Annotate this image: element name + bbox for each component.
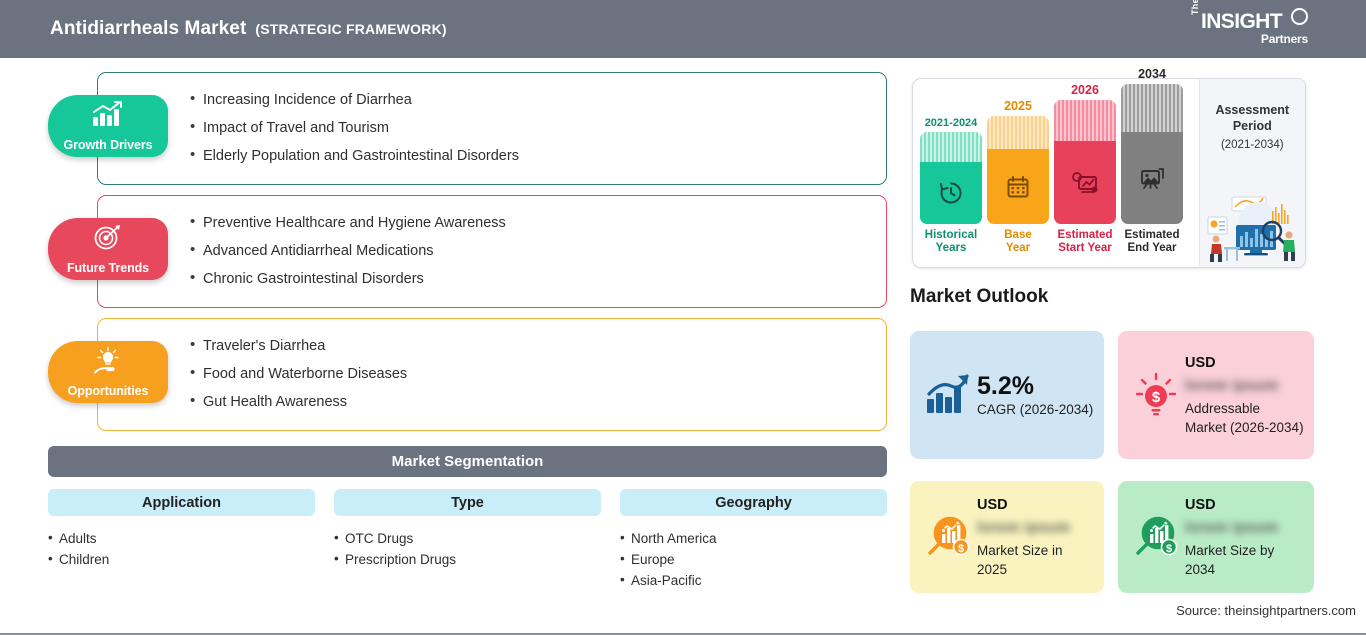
- addressable-market-masked-value: lorem ipsum: [1185, 376, 1305, 396]
- bar-caption: Estimated End Year: [1121, 229, 1183, 255]
- addressable-market-icon-wrap: $: [1127, 341, 1185, 449]
- logo-the-text: The: [1190, 0, 1200, 15]
- bar-solid: [1054, 141, 1116, 224]
- badge-label: Opportunities: [68, 384, 149, 398]
- future-trends-list: Preventive Healthcare and Hygiene Awaren…: [98, 196, 886, 293]
- list-item: OTC Drugs: [334, 528, 601, 549]
- list-item: Europe: [620, 549, 887, 570]
- bar-caption-line1: Base: [1004, 229, 1032, 241]
- assessment-period-title-line2: Period: [1233, 119, 1272, 133]
- market-segmentation-title: Market Segmentation: [392, 453, 544, 470]
- bar-shape: [920, 132, 982, 224]
- cagr-card: 5.2% CAGR (2026-2034): [910, 331, 1104, 459]
- bar-chart-arrow-icon: [924, 373, 972, 417]
- source-text: Source: theinsightpartners.com: [1176, 603, 1356, 618]
- list-item: North America: [620, 528, 887, 549]
- analytics-dashboard-illustration: [1202, 191, 1305, 263]
- svg-text:$: $: [1152, 389, 1161, 406]
- bar-solid: [920, 162, 982, 224]
- person-right: [1283, 231, 1295, 261]
- assessment-bar-estimated-end: 2034 Estimated End: [1121, 67, 1183, 255]
- page-title: Antidiarrheals Market: [50, 18, 246, 40]
- magnifier-chart-dollar-icon: $: [923, 514, 973, 560]
- addressable-market-label: Addressable Market (2026-2034): [1185, 399, 1305, 437]
- bar-stripes: [1054, 100, 1116, 141]
- bar-caption-line1: Estimated: [1058, 229, 1113, 241]
- lightbulb-dollar-icon: $: [1133, 371, 1179, 419]
- bar-year-label: 2026: [1054, 83, 1116, 97]
- opportunities-badge[interactable]: Opportunities: [48, 341, 168, 403]
- badge-label: Growth Drivers: [64, 138, 153, 152]
- bar-stripes: [1121, 84, 1183, 132]
- list-item: Traveler's Diarrhea: [190, 332, 886, 360]
- badge-label: Future Trends: [67, 261, 149, 275]
- assessment-bar-historical: 2021-2024 Historical Years: [920, 117, 982, 255]
- market-size-2034-icon-wrap: $: [1127, 491, 1185, 583]
- market-size-2025-masked-value: lorem ipsum: [977, 518, 1095, 538]
- right-column: 2021-2024 Historical Years: [900, 58, 1366, 633]
- bar-year-label: 2021-2024: [920, 117, 982, 129]
- svg-text:$: $: [958, 543, 964, 555]
- bar-caption: Estimated Start Year: [1054, 229, 1116, 255]
- assessment-period-panel: 2021-2024 Historical Years: [912, 78, 1306, 268]
- market-outlook-title: Market Outlook: [910, 286, 1048, 308]
- target-dartboard-icon: [92, 224, 124, 250]
- history-clock-icon: [938, 180, 964, 206]
- market-size-2034-label: Market Size by 2034: [1185, 541, 1305, 579]
- image-chart-monitor-icon: [1138, 165, 1166, 191]
- market-size-2025-label: Market Size in 2025: [977, 541, 1095, 579]
- future-trends-panel: Preventive Healthcare and Hygiene Awaren…: [97, 195, 887, 308]
- assessment-period-title-line1: Assessment: [1215, 103, 1289, 117]
- list-item: Chronic Gastrointestinal Disorders: [190, 265, 886, 293]
- segmentation-column-title: Geography: [620, 489, 887, 516]
- assessment-bars: 2021-2024 Historical Years: [913, 79, 1199, 267]
- growth-drivers-list: Increasing Incidence of Diarrhea Impact …: [98, 73, 886, 170]
- list-item: Preventive Healthcare and Hygiene Awaren…: [190, 209, 886, 237]
- list-item: Food and Waterborne Diseases: [190, 360, 886, 388]
- left-column: Increasing Incidence of Diarrhea Impact …: [0, 58, 900, 633]
- list-item: Asia-Pacific: [620, 570, 887, 591]
- market-segmentation-header: Market Segmentation: [48, 446, 887, 477]
- opportunities-panel: Traveler's Diarrhea Food and Waterborne …: [97, 318, 887, 431]
- assessment-period-side: Assessment Period (2021-2034): [1199, 79, 1305, 267]
- list-item: Adults: [48, 528, 315, 549]
- segmentation-column-type: Type OTC Drugs Prescription Drugs: [334, 489, 601, 570]
- bar-caption-line2: Years: [936, 242, 967, 254]
- list-item: Gut Health Awareness: [190, 388, 886, 416]
- list-item: Increasing Incidence of Diarrhea: [190, 86, 886, 114]
- cagr-card-icon-wrap: [919, 341, 977, 449]
- segmentation-column-geography: Geography North America Europe Asia-Paci…: [620, 489, 887, 591]
- analytics-gear-icon: [1071, 170, 1099, 196]
- addressable-market-currency: USD: [1185, 354, 1305, 373]
- assessment-period-range: (2021-2034): [1200, 139, 1305, 151]
- bar-caption: Base Year: [987, 229, 1049, 255]
- segmentation-column-list: Adults Children: [48, 528, 315, 570]
- bar-year-label: 2025: [987, 99, 1049, 113]
- logo-ring-icon: [1291, 8, 1308, 25]
- segmentation-column-list: OTC Drugs Prescription Drugs: [334, 528, 601, 570]
- list-item: Advanced Antidiarrheal Medications: [190, 237, 886, 265]
- bar-stripes: [987, 116, 1049, 149]
- bar-year-label: 2034: [1121, 67, 1183, 81]
- segmentation-column-title: Type: [334, 489, 601, 516]
- logo-insight-text: INSIGHT: [1201, 10, 1282, 34]
- svg-text:$: $: [1166, 543, 1172, 555]
- growth-drivers-panel: Increasing Incidence of Diarrhea Impact …: [97, 72, 887, 185]
- assessment-period-title: Assessment Period: [1200, 102, 1305, 134]
- future-trends-badge[interactable]: Future Trends: [48, 218, 168, 280]
- opportunities-list: Traveler's Diarrhea Food and Waterborne …: [98, 319, 886, 416]
- bar-caption-line1: Estimated: [1125, 229, 1180, 241]
- lightbulb-hand-icon: [91, 347, 125, 375]
- list-item: Impact of Travel and Tourism: [190, 114, 886, 142]
- bar-caption: Historical Years: [920, 229, 982, 255]
- insight-partners-logo: The INSIGHT Partners: [1190, 7, 1310, 51]
- addressable-market-card: $ USD lorem ipsum Addressable Market (20…: [1118, 331, 1314, 459]
- market-size-2025-card: $ USD lorem ipsum Market Size in 2025: [910, 481, 1104, 593]
- market-size-2034-card: $ USD lorem ipsum Market Size by 2034: [1118, 481, 1314, 593]
- bar-caption-line2: End Year: [1127, 242, 1176, 254]
- calendar-icon: [1005, 174, 1031, 200]
- page-header: Antidiarrheals Market (STRATEGIC FRAMEWO…: [0, 0, 1366, 58]
- market-size-2034-masked-value: lorem ipsum: [1185, 518, 1305, 538]
- cagr-label: CAGR (2026-2034): [977, 400, 1095, 419]
- segmentation-column-list: North America Europe Asia-Pacific: [620, 528, 887, 591]
- bar-solid: [1121, 132, 1183, 224]
- bar-shape: [1121, 84, 1183, 224]
- bar-caption-line2: Year: [1006, 242, 1030, 254]
- bar-caption-line2: Start Year: [1058, 242, 1112, 254]
- segmentation-column-title: Application: [48, 489, 315, 516]
- growth-drivers-badge[interactable]: Growth Drivers: [48, 95, 168, 157]
- logo-partners-text: Partners: [1261, 32, 1308, 46]
- bar-caption-line1: Historical: [925, 229, 977, 241]
- bar-chart-growth-icon: [91, 101, 125, 127]
- assessment-bar-base: 2025: [987, 99, 1049, 255]
- person-left: [1210, 236, 1222, 262]
- bar-shape: [1054, 100, 1116, 224]
- cagr-value: 5.2%: [977, 372, 1095, 400]
- page-subtitle: (STRATEGIC FRAMEWORK): [255, 21, 446, 37]
- bar-stripes: [920, 132, 982, 162]
- segmentation-column-application: Application Adults Children: [48, 489, 315, 570]
- list-item: Elderly Population and Gastrointestinal …: [190, 142, 886, 170]
- list-item: Prescription Drugs: [334, 549, 601, 570]
- bar-solid: [987, 149, 1049, 224]
- market-size-2025-currency: USD: [977, 496, 1095, 515]
- assessment-bar-estimated-start: 2026 Estimated Star: [1054, 83, 1116, 255]
- market-size-2025-icon-wrap: $: [919, 491, 977, 583]
- market-size-2034-currency: USD: [1185, 496, 1305, 515]
- bar-shape: [987, 116, 1049, 224]
- magnifier-chart-dollar-icon: $: [1131, 514, 1181, 560]
- list-item: Children: [48, 549, 315, 570]
